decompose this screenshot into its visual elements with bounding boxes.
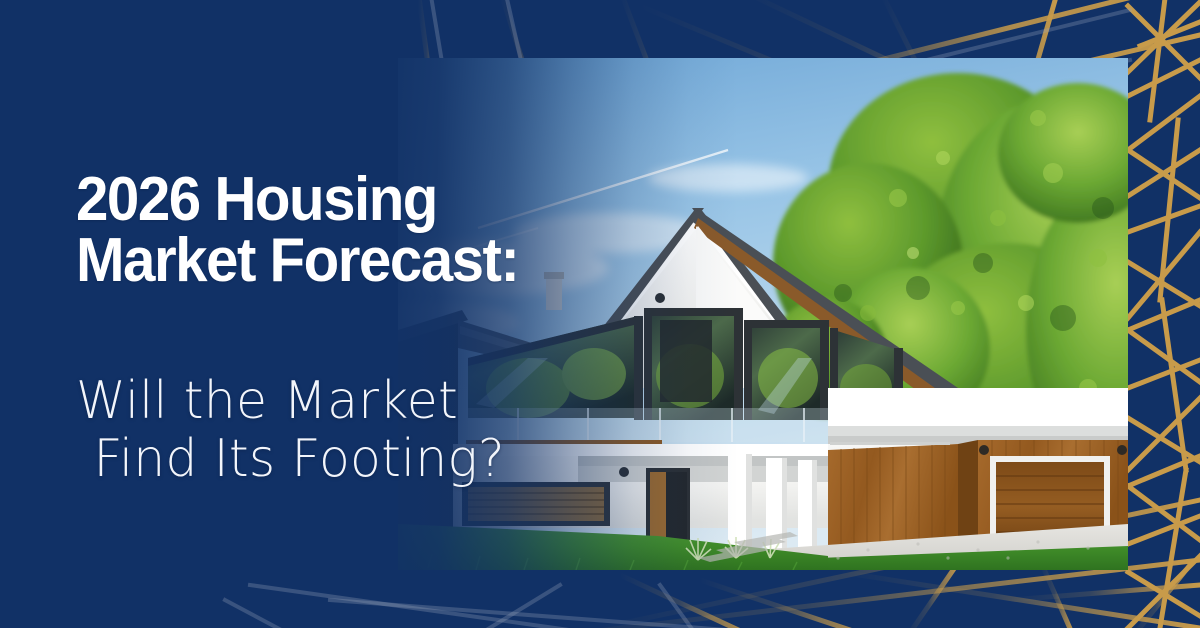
subtitle-line-1: Will the Market <box>76 371 458 431</box>
headline-block: 2026 Housing Market Forecast: Will the M… <box>76 170 636 546</box>
page-subtitle: Will the Market Find Its Footing? <box>76 314 619 547</box>
social-banner: 2026 Housing Market Forecast: Will the M… <box>0 0 1200 628</box>
subtitle-line-2: Find Its Footing? <box>76 430 619 488</box>
page-title: 2026 Housing Market Forecast: <box>76 170 602 292</box>
